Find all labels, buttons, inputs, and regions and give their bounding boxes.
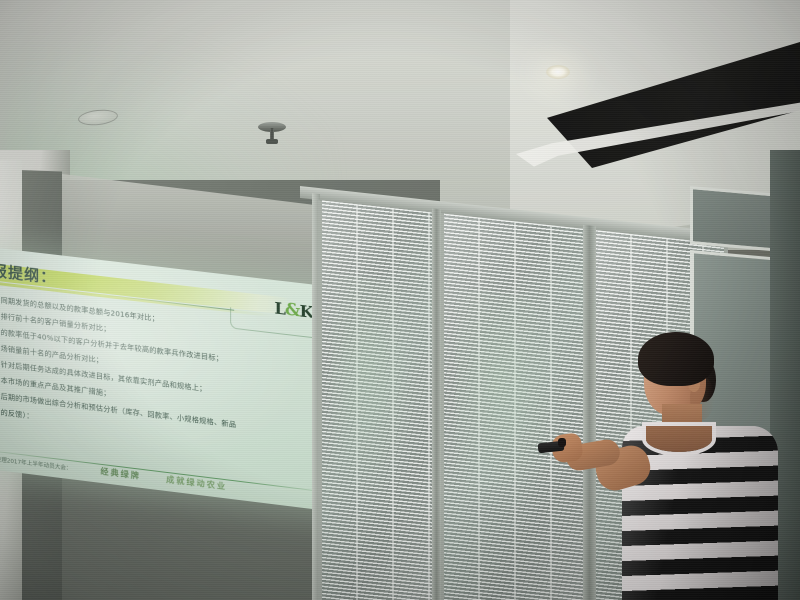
- glass-sheen: [444, 214, 592, 600]
- slide-footer-slogan-secondary: 成就绿动农业: [166, 474, 227, 493]
- shirt-collar: [646, 426, 712, 452]
- glass-panel-left: [318, 200, 444, 600]
- fire-sprinkler-icon: [258, 122, 286, 150]
- glass-panel-center: [440, 213, 596, 600]
- projected-slide: 报提纲： L&K® 市场同期发货的总额以及的款率总额与2016年对比； 市场排行…: [0, 246, 340, 512]
- partition-mullion: [432, 208, 441, 600]
- presenter-remote-grip: [558, 438, 566, 447]
- standing-man: [600, 330, 800, 600]
- hair: [638, 332, 714, 386]
- sprinkler-head: [266, 139, 278, 144]
- photo-scene: 报提纲： L&K® 市场同期发货的总额以及的款率总额与2016年对比； 市场排行…: [0, 0, 800, 600]
- recessed-downlight-lit-icon: [546, 65, 570, 79]
- partition-mullion: [583, 225, 596, 600]
- glass-sheen: [322, 200, 440, 600]
- slide-content: 报提纲： L&K® 市场同期发货的总额以及的款率总额与2016年对比； 市场排行…: [0, 246, 340, 512]
